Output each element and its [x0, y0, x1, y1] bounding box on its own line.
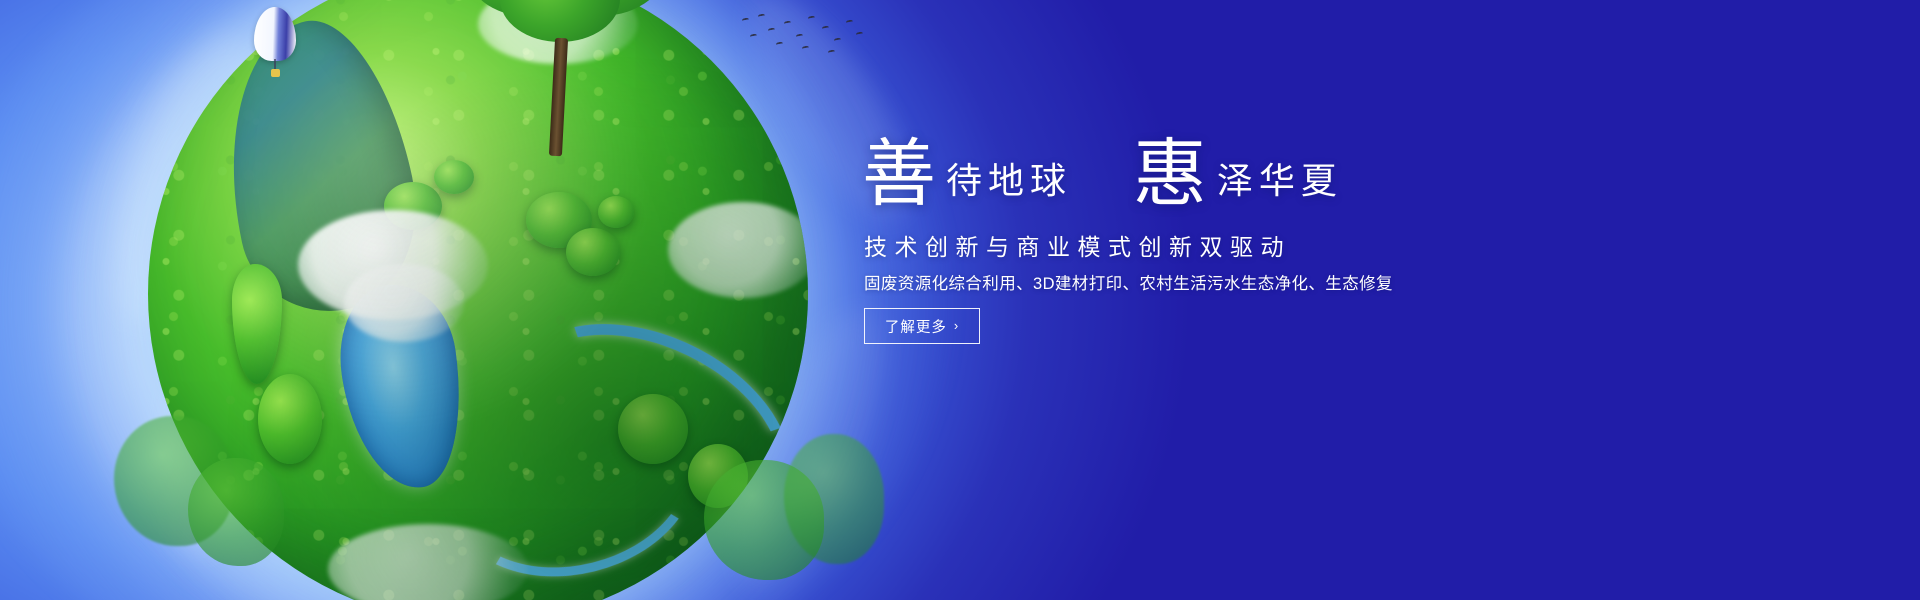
- balloon-envelope: [254, 7, 296, 61]
- headline-phrase-1: 善待地球: [862, 132, 1072, 206]
- mountain-ridge: [200, 6, 436, 327]
- bush: [598, 196, 634, 228]
- bush: [384, 182, 442, 230]
- headline: 善待地球 惠泽华夏: [862, 132, 1343, 206]
- birds-flock-icon: [738, 12, 868, 58]
- headline-accent-char-1: 善: [862, 134, 936, 216]
- river: [430, 366, 716, 600]
- cloud-puff: [328, 524, 528, 600]
- hero-banner: 善待地球 惠泽华夏 技术创新与商业模式创新双驱动 固废资源化综合利用、3D建材打…: [0, 0, 1920, 600]
- headline-phrase-2: 惠泽华夏: [1133, 132, 1343, 206]
- headline-rest-2: 泽华夏: [1217, 161, 1343, 201]
- banner-content: 善待地球 惠泽华夏 技术创新与商业模式创新双驱动 固废资源化综合利用、3D建材打…: [862, 0, 1562, 600]
- bush: [526, 192, 592, 248]
- bush: [434, 160, 474, 194]
- learn-more-button[interactable]: 了解更多 ›: [864, 308, 980, 344]
- tree-canopy: [500, 0, 620, 42]
- cloud-puff: [668, 202, 808, 298]
- description: 固废资源化综合利用、3D建材打印、农村生活污水生态净化、生态修复: [864, 270, 1393, 294]
- bush: [258, 374, 322, 464]
- cloud-puff: [298, 210, 488, 320]
- learn-more-label: 了解更多: [885, 316, 947, 337]
- headline-accent-char-2: 惠: [1133, 134, 1207, 216]
- subtitle: 技术创新与商业模式创新双驱动: [864, 228, 1291, 262]
- headline-rest-1: 待地球: [946, 161, 1072, 201]
- tree: [448, 0, 678, 120]
- lake: [330, 277, 473, 496]
- cloud-puff: [344, 264, 464, 342]
- balloon-basket: [271, 69, 280, 77]
- bush: [232, 264, 282, 384]
- hot-air-balloon-icon: [254, 7, 296, 81]
- background-tree: [188, 458, 284, 566]
- earth-globe-image: [148, 0, 848, 600]
- bush: [618, 394, 688, 464]
- chevron-right-icon: ›: [954, 319, 959, 332]
- bush: [566, 228, 620, 276]
